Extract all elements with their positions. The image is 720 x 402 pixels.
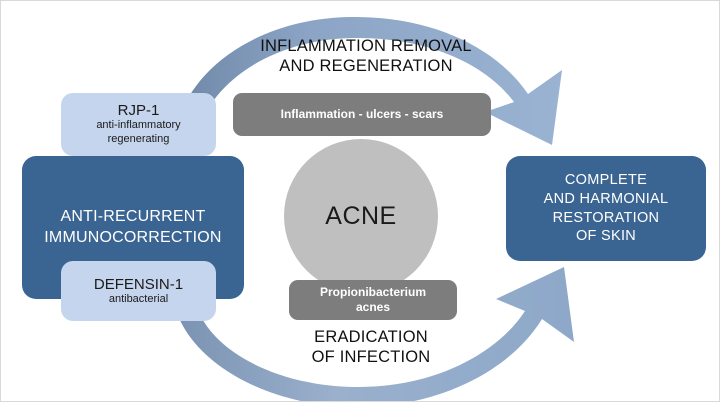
agent-box-rjp1: RJP-1 anti-inflammatory regenerating	[61, 93, 216, 156]
bottom-caption: ERADICATION OF INFECTION	[231, 328, 511, 368]
pathogen-bar: Propionibacterium acnes	[289, 280, 457, 320]
agent-defensin1-subtitle: antibacterial	[109, 293, 168, 307]
agent-box-defensin1: DEFENSIN-1 antibacterial	[61, 261, 216, 321]
acne-label: ACNE	[325, 202, 396, 231]
top-caption: INFLAMMATION REMOVAL AND REGENERATION	[216, 37, 516, 77]
agent-rjp1-title: RJP-1	[118, 102, 160, 119]
inflammation-bar: Inflammation - ulcers - scars	[233, 93, 491, 136]
agent-defensin1-title: DEFENSIN-1	[94, 276, 183, 293]
agent-rjp1-subtitle: anti-inflammatory regenerating	[96, 119, 180, 147]
acne-treatment-diagram: INFLAMMATION REMOVAL AND REGENERATION In…	[0, 0, 720, 402]
skin-restoration-box: COMPLETE AND HARMONIAL RESTORATION OF SK…	[506, 156, 706, 261]
acne-circle: ACNE	[284, 139, 438, 293]
